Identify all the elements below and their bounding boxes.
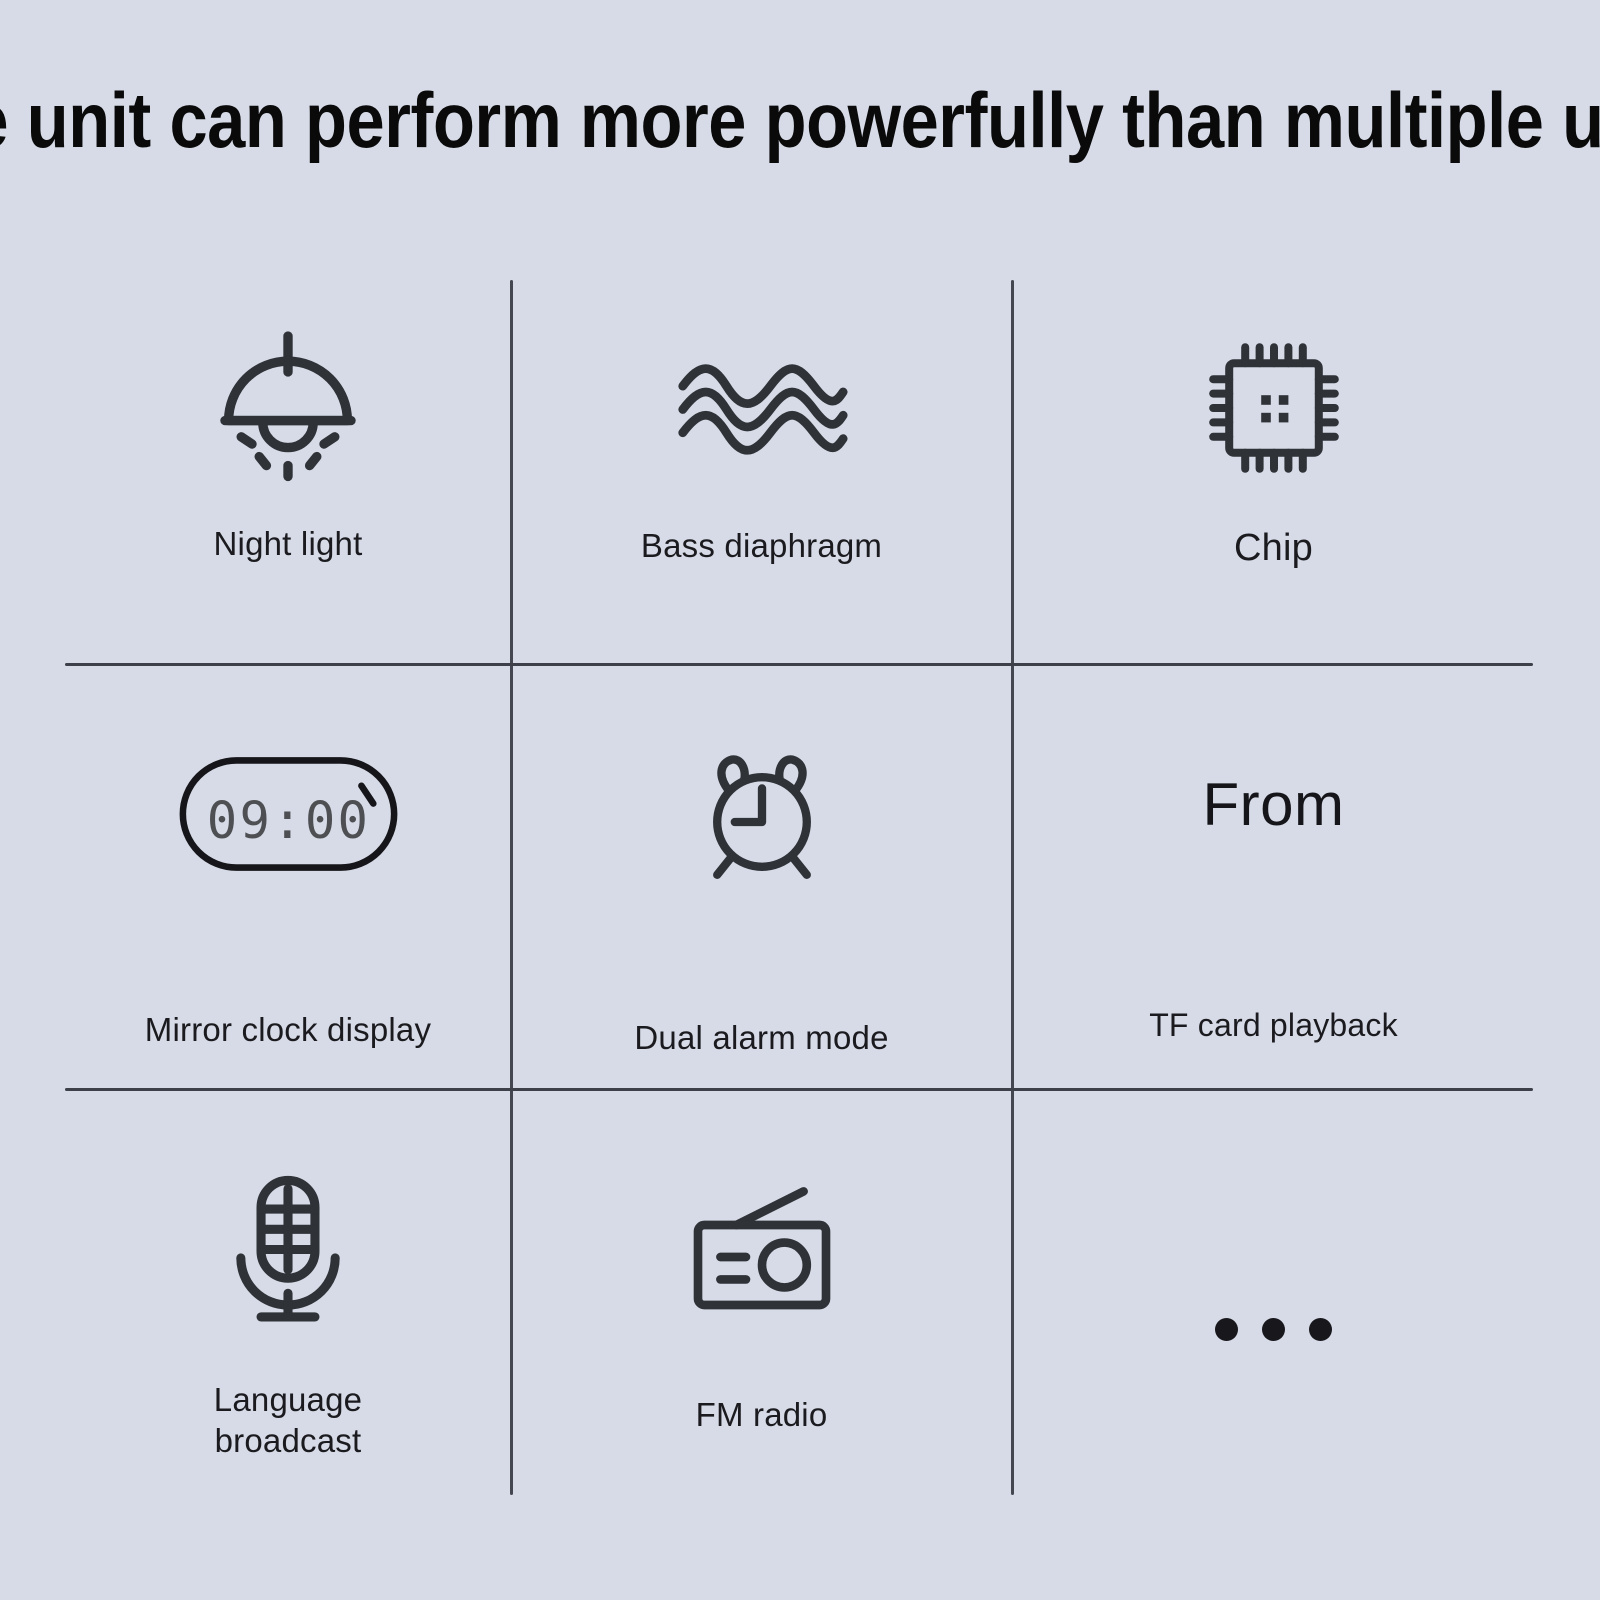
feature-cell-dual-alarm-mode[interactable]: Dual alarm mode: [511, 664, 1012, 1089]
svg-text:09:00: 09:00: [206, 791, 369, 850]
feature-cell-tf-card-playback[interactable]: From TF card playback: [1012, 664, 1535, 1089]
feature-label: Dual alarm mode: [634, 1017, 888, 1058]
feature-cell-night-light[interactable]: Night light: [65, 265, 511, 664]
ellipsis-dot: [1262, 1318, 1285, 1341]
feature-grid: Night light Bass diaphragm: [65, 265, 1535, 1500]
header: One unit can perform more powerfully tha…: [0, 0, 1600, 240]
radio-icon: [682, 1159, 842, 1339]
digital-clock-icon: 09:00: [176, 719, 401, 909]
feature-cell-fm-radio[interactable]: FM radio: [511, 1089, 1012, 1500]
feature-label: FM radio: [696, 1394, 828, 1435]
pendant-lamp-icon: [198, 313, 378, 503]
feature-cell-language-broadcast[interactable]: Language broadcast: [65, 1089, 511, 1500]
alarm-clock-icon: [682, 719, 842, 909]
page-title: One unit can perform more powerfully tha…: [0, 81, 1600, 159]
cpu-chip-icon: [1194, 313, 1354, 503]
sound-waves-icon: [674, 313, 849, 503]
text-label-icon: From: [1203, 709, 1345, 899]
feature-label: Mirror clock display: [145, 1009, 431, 1050]
feature-cell-chip[interactable]: Chip: [1012, 265, 1535, 664]
feature-label: Night light: [214, 523, 363, 564]
feature-cell-bass-diaphragm[interactable]: Bass diaphragm: [511, 265, 1012, 664]
feature-label: Bass diaphragm: [641, 525, 882, 566]
microphone-icon: [218, 1159, 358, 1339]
ellipsis-dot: [1309, 1318, 1332, 1341]
feature-cell-more-features[interactable]: [1012, 1089, 1535, 1500]
feature-label: TF card playback: [1149, 1005, 1398, 1045]
from-text: From: [1203, 770, 1345, 839]
ellipsis-icon: [1215, 1239, 1332, 1419]
feature-label: Chip: [1234, 525, 1313, 573]
ellipsis-dot: [1215, 1318, 1238, 1341]
feature-cell-mirror-clock-display[interactable]: 09:00 Mirror clock display: [65, 664, 511, 1089]
feature-label: Language broadcast: [138, 1379, 438, 1462]
